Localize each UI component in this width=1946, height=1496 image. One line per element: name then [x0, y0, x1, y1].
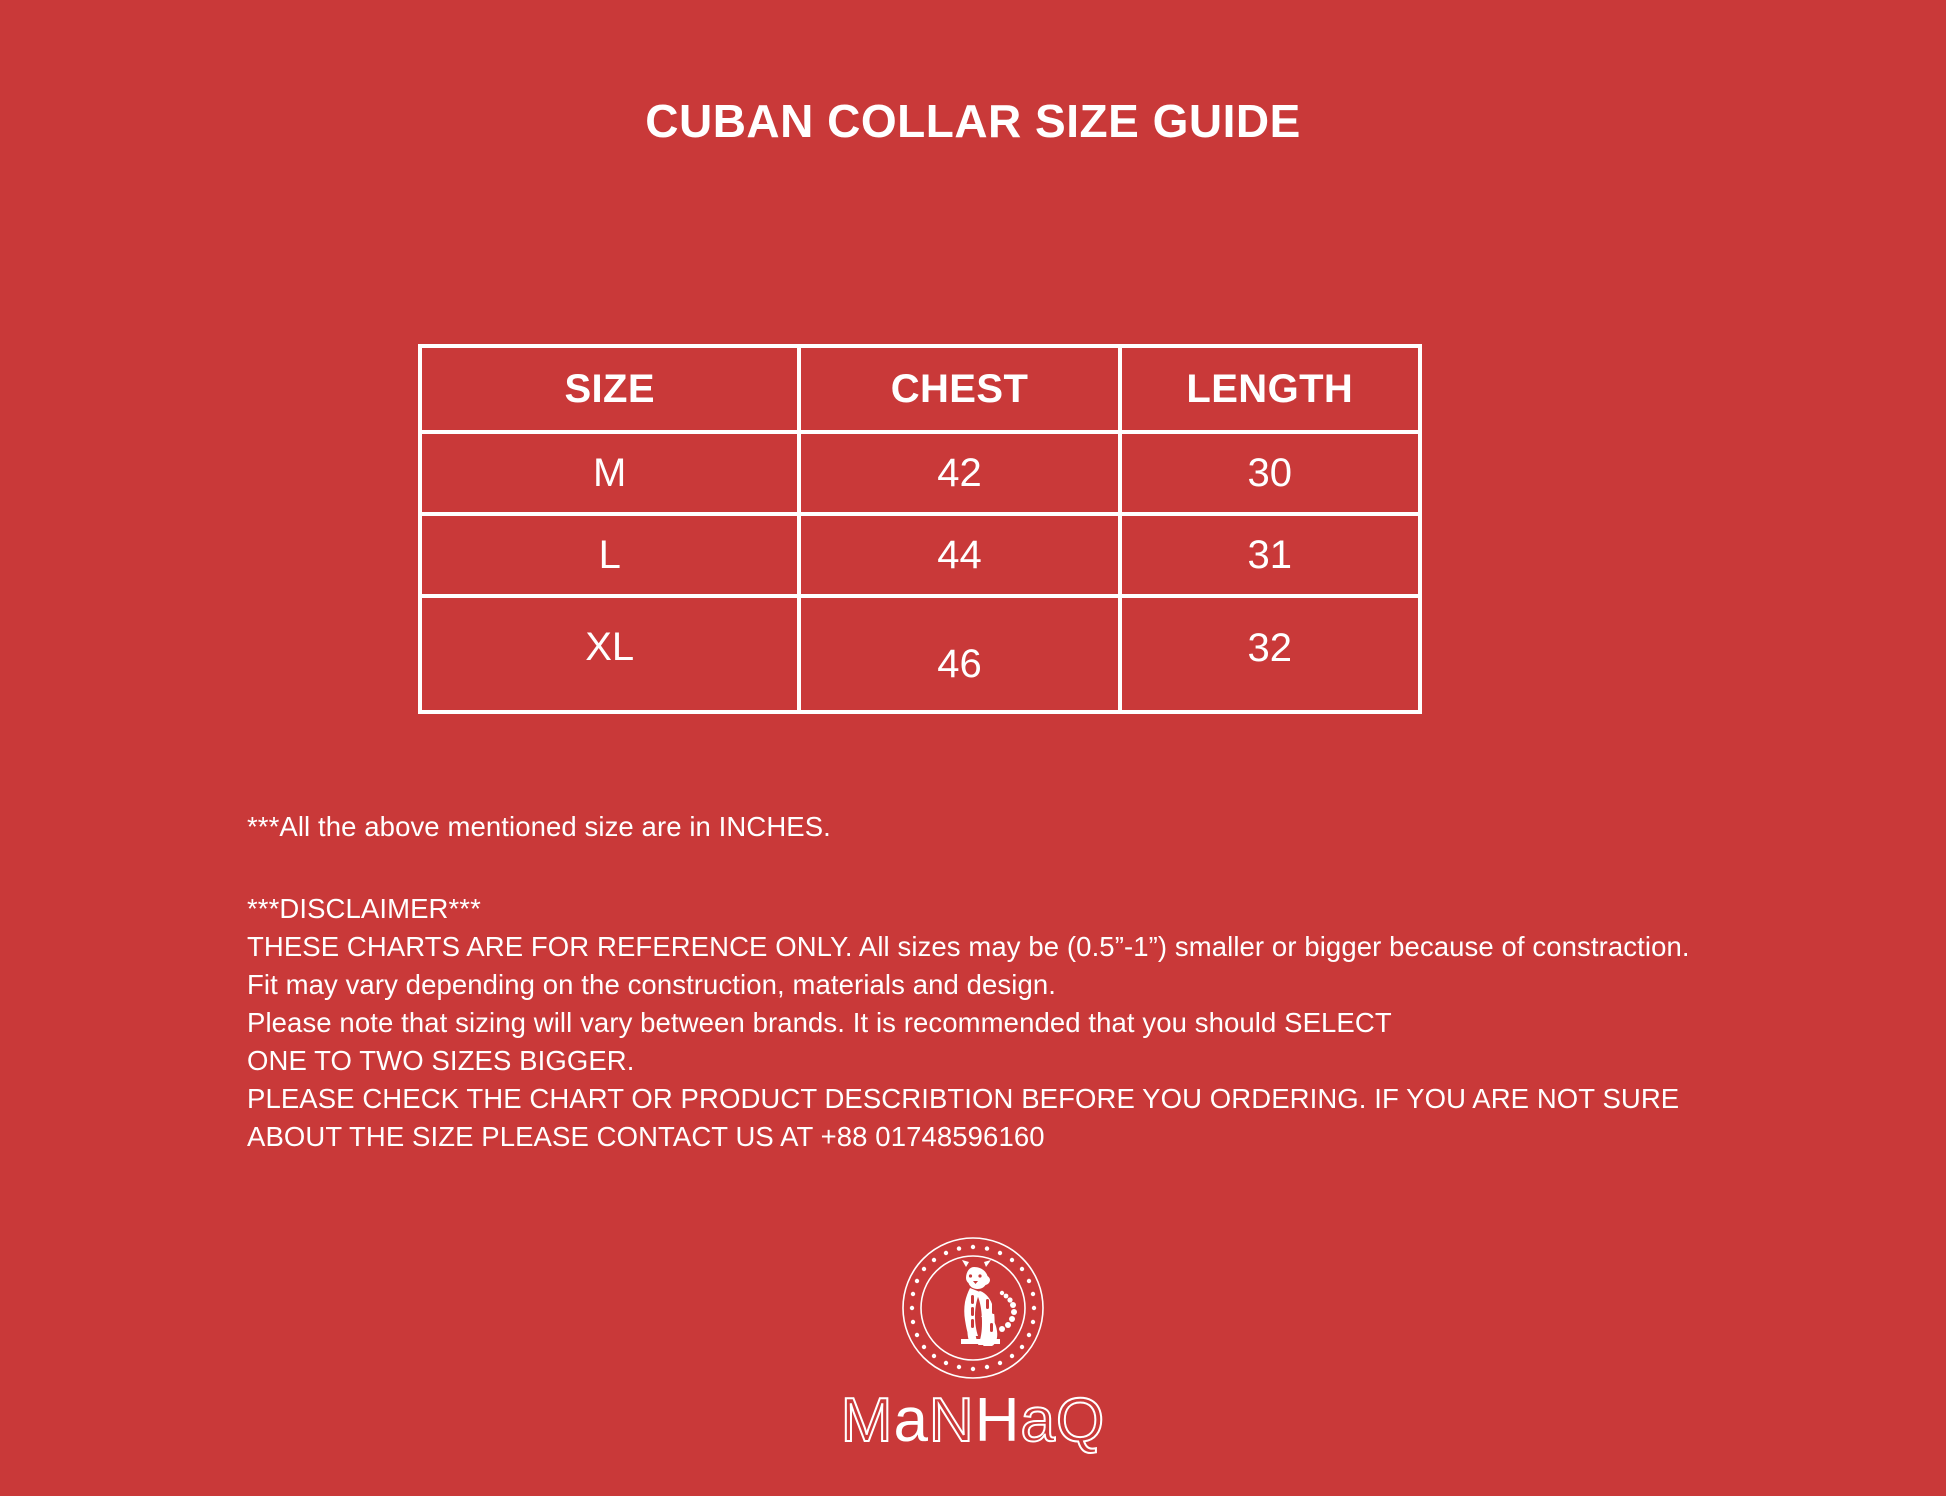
column-header-size: SIZE: [420, 346, 799, 432]
cell-length: 32: [1120, 596, 1420, 712]
cell-length: 31: [1120, 514, 1420, 596]
wordmark-letter-h: H: [975, 1385, 1021, 1456]
disclaimer-line: ONE TO TWO SIZES BIGGER.: [247, 1042, 1827, 1080]
tiger-circle-emblem-icon: [898, 1233, 1048, 1383]
disclaimer-line: Fit may vary depending on the constructi…: [247, 966, 1827, 1004]
column-header-length: LENGTH: [1120, 346, 1420, 432]
size-chart-table: SIZE CHEST LENGTH M 42 30 L 44 31 XL 46 …: [418, 344, 1422, 714]
disclaimer-line: PLEASE CHECK THE CHART OR PRODUCT DESCRI…: [247, 1080, 1827, 1118]
cell-chest: 42: [799, 432, 1119, 514]
column-header-chest: CHEST: [799, 346, 1119, 432]
table-row: L 44 31: [420, 514, 1420, 596]
cell-size: M: [420, 432, 799, 514]
notes-block: ***All the above mentioned size are in I…: [247, 808, 1827, 1156]
disclaimer-heading: ***DISCLAIMER***: [247, 890, 1827, 928]
wordmark-letter-n: N: [929, 1385, 975, 1456]
cell-chest: 44: [799, 514, 1119, 596]
table-header-row: SIZE CHEST LENGTH: [420, 346, 1420, 432]
disclaimer-line: THESE CHARTS ARE FOR REFERENCE ONLY. All…: [247, 928, 1827, 966]
cell-size: XL: [420, 596, 799, 712]
page-title: CUBAN COLLAR SIZE GUIDE: [0, 94, 1946, 148]
table-row: M 42 30: [420, 432, 1420, 514]
cell-length: 30: [1120, 432, 1420, 514]
wordmark-letter-q: Q: [1056, 1385, 1105, 1456]
brand-wordmark: MaNHaQ: [763, 1385, 1183, 1456]
wordmark-letter-a1: a: [893, 1385, 928, 1456]
disclaimer-line: Please note that sizing will vary betwee…: [247, 1004, 1827, 1042]
cell-size: L: [420, 514, 799, 596]
tiger-icon: [961, 1260, 1017, 1346]
note-units: ***All the above mentioned size are in I…: [247, 808, 1827, 846]
brand-logo: MaNHaQ: [763, 1233, 1183, 1456]
cell-chest: 46: [799, 596, 1119, 712]
contact-line: ABOUT THE SIZE PLEASE CONTACT US AT +88 …: [247, 1118, 1827, 1156]
table-row: XL 46 32: [420, 596, 1420, 712]
wordmark-letter-a2: a: [1020, 1385, 1055, 1456]
wordmark-letter-m: M: [841, 1385, 894, 1456]
